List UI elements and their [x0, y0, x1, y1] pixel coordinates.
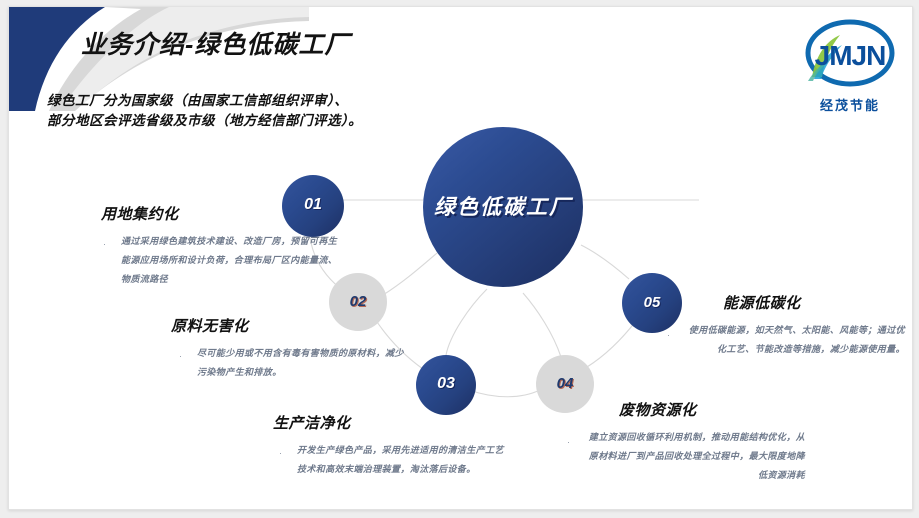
center-node-label: 绿色低碳工厂: [434, 191, 572, 221]
item-05-text: 使用低碳能源，如天然气、太阳能、风能等；通过优化工艺、节能改造等措施，减少能源使…: [687, 321, 905, 359]
line-center-node4: [523, 293, 561, 357]
slide-page: 业务介绍-绿色低碳工厂 绿色工厂分为国家级（由国家工信部组织评审）、 部分地区会…: [8, 6, 913, 510]
item-block-01: 用地集约化 · 通过采用绿色建筑技术建设、改造厂房，预留可再生能源应用场所和设计…: [97, 203, 347, 289]
item-03-title: 生产洁净化: [273, 412, 521, 433]
line-center-node2: [383, 253, 437, 295]
item-04-text: 建立资源回收循环利用机制，推动用能结构优化，从原材料进厂到产品回收处理全过程中，…: [587, 428, 805, 485]
bullet-icon-02: ·: [179, 351, 182, 361]
item-01-title: 用地集约化: [101, 203, 347, 224]
node-03-label: 03: [437, 375, 455, 393]
item-05-title: 能源低碳化: [723, 292, 913, 313]
item-04-title: 废物资源化: [619, 399, 817, 420]
page-subtitle: 绿色工厂分为国家级（由国家工信部组织评审）、 部分地区会评选省级及市级（地方经信…: [47, 91, 362, 131]
logo-company-name: 经茂节能: [790, 95, 910, 114]
item-block-04: 废物资源化 · 建立资源回收循环利用机制，推动用能结构优化，从原材料进厂到产品回…: [557, 399, 817, 485]
company-logo: JMJN 经茂节能: [790, 15, 910, 123]
logo-mark-icon: JMJN: [790, 15, 910, 95]
item-01-text: 通过采用绿色建筑技术建设、改造厂房，预留可再生能源应用场所和设计负荷，合理布局厂…: [121, 232, 343, 289]
bullet-icon-03: ·: [279, 448, 282, 458]
line-center-node5: [581, 245, 629, 279]
page-title: 业务介绍-绿色低碳工厂: [81, 25, 350, 61]
node-04-label: 04: [557, 375, 574, 392]
item-block-03: 生产洁净化 · 开发生产绿色产品，采用先进适用的清洁生产工艺技术和高效末端治理装…: [271, 412, 521, 479]
line-node3-node4: [469, 390, 540, 397]
center-node[interactable]: 绿色低碳工厂: [423, 127, 583, 287]
bullet-icon-04: ·: [567, 437, 570, 447]
svg-text:JMJN: JMJN: [815, 40, 886, 71]
node-03[interactable]: 03: [416, 355, 476, 415]
line-center-node3: [446, 289, 487, 355]
subtitle-line-1: 绿色工厂分为国家级（由国家工信部组织评审）、: [47, 91, 362, 111]
item-block-02: 原料无害化 · 尽可能少用或不用含有毒有害物质的原材料，减少污染物产生和排放。: [167, 315, 417, 382]
node-02-label: 02: [350, 293, 367, 310]
slide-root: 业务介绍-绿色低碳工厂 绿色工厂分为国家级（由国家工信部组织评审）、 部分地区会…: [0, 0, 919, 518]
bullet-icon-01: ·: [103, 239, 106, 249]
item-03-text: 开发生产绿色产品，采用先进适用的清洁生产工艺技术和高效末端治理装置，淘汰落后设备…: [297, 441, 513, 479]
item-block-05: 能源低碳化 · 使用低碳能源，如天然气、太阳能、风能等；通过优化工艺、节能改造等…: [659, 292, 913, 359]
item-02-text: 尽可能少用或不用含有毒有害物质的原材料，减少污染物产生和排放。: [197, 344, 413, 382]
node-05-label: 05: [644, 294, 661, 311]
subtitle-line-2: 部分地区会评选省级及市级（地方经信部门评选）。: [47, 111, 362, 131]
bullet-icon-05: ·: [667, 330, 670, 340]
item-02-title: 原料无害化: [171, 315, 417, 336]
